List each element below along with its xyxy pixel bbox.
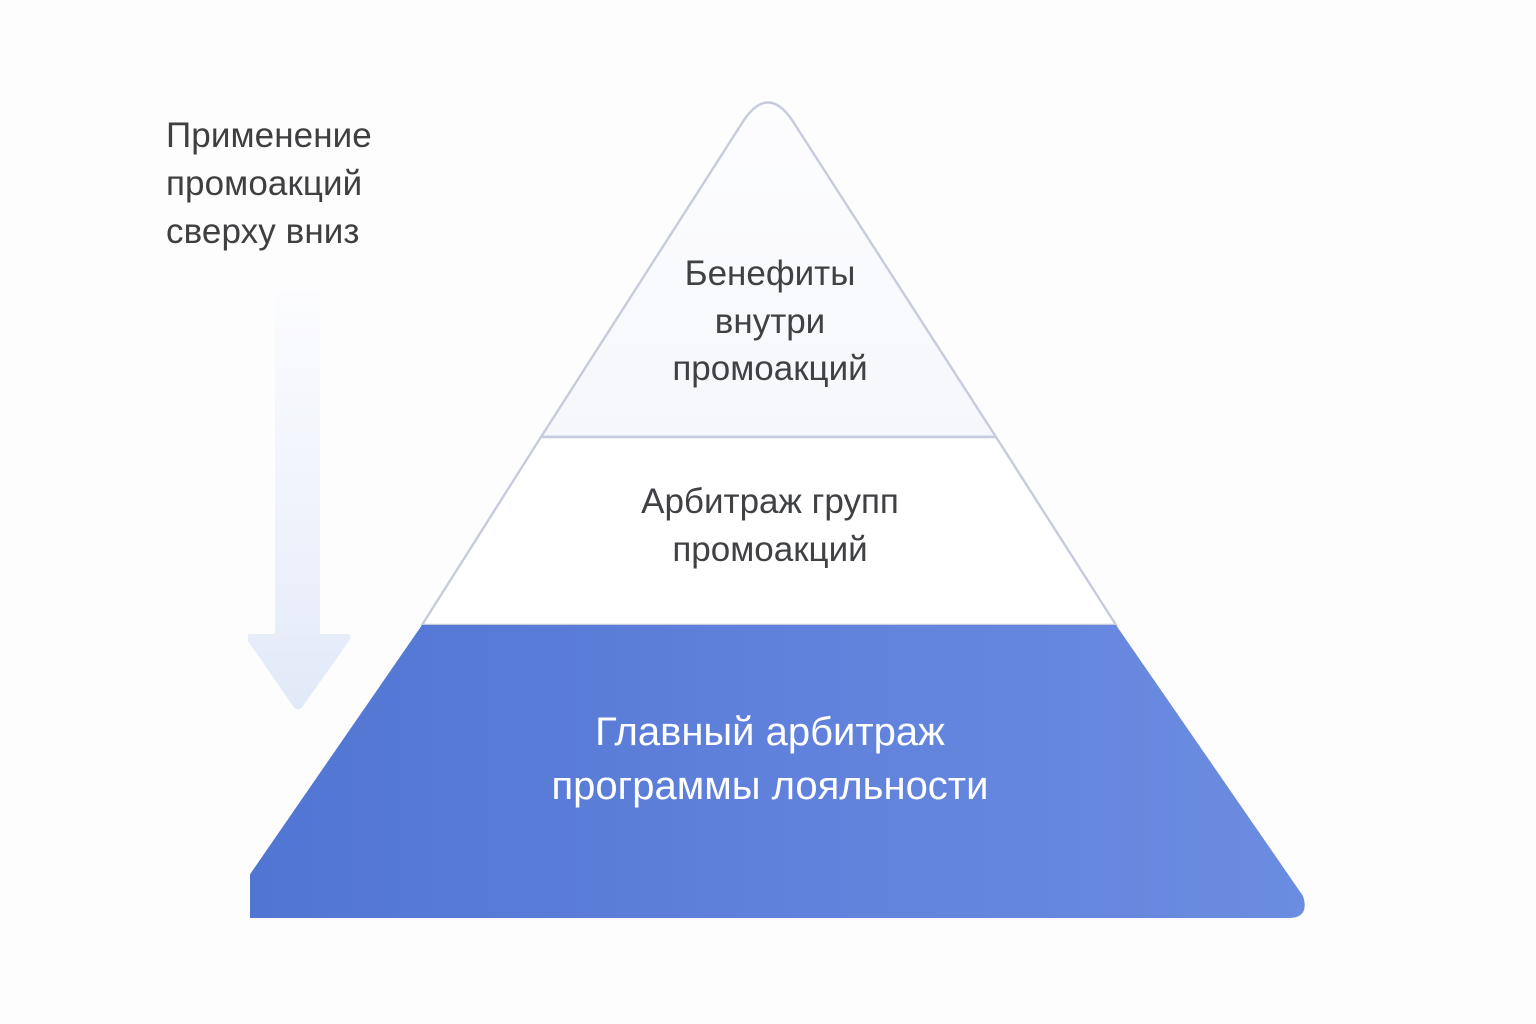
pyramid-tier-base[interactable] bbox=[250, 625, 1305, 918]
pyramid-tier-middle[interactable] bbox=[422, 437, 1116, 625]
pyramid-tier-top[interactable] bbox=[541, 103, 996, 438]
diagram-canvas: Применение промоакций сверху вниз bbox=[0, 0, 1536, 1024]
pyramid-chart bbox=[250, 85, 1360, 945]
